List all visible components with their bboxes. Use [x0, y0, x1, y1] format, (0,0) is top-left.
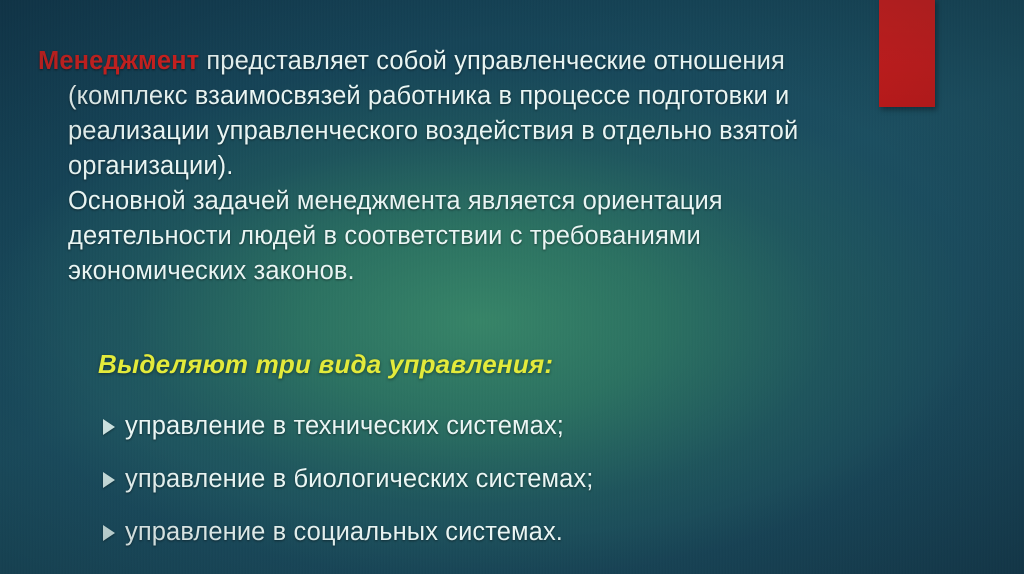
list-item-label: управление в биологических системах; — [125, 465, 593, 494]
triangle-right-icon — [103, 525, 125, 541]
bullet-list: управление в технических системах; управ… — [103, 400, 963, 559]
list-item-label: управление в социальных системах. — [125, 518, 563, 547]
subheading: Выделяют три вида управления: — [98, 349, 553, 380]
paragraph-line-1-text: представляет собой управленческие отноше… — [199, 47, 785, 75]
paragraph-line-4: организации). — [0, 149, 1024, 184]
paragraph-line-2: (комплекс взаимосвязей работника в проце… — [0, 79, 1024, 114]
list-item: управление в биологических системах; — [103, 453, 963, 506]
presentation-slide: Менеджмент представляет собой управленче… — [0, 0, 1024, 574]
paragraph-line-6: деятельности людей в соответствии с треб… — [0, 219, 1024, 254]
triangle-right-icon — [103, 419, 125, 435]
paragraph-line-3: реализации управленческого воздействия в… — [0, 114, 1024, 149]
triangle-right-icon — [103, 472, 125, 488]
list-item-label: управление в технических системах; — [125, 412, 564, 441]
list-item: управление в социальных системах. — [103, 506, 963, 559]
lead-term: Менеджмент — [38, 47, 199, 75]
paragraph-line-5: Основной задачей менеджмента является ор… — [0, 184, 1024, 219]
list-item: управление в технических системах; — [103, 400, 963, 453]
paragraph-line-1: Менеджмент представляет собой управленче… — [0, 44, 1024, 79]
paragraph-line-7: экономических законов. — [0, 254, 1024, 289]
definition-paragraph: Менеджмент представляет собой управленче… — [0, 44, 1024, 289]
